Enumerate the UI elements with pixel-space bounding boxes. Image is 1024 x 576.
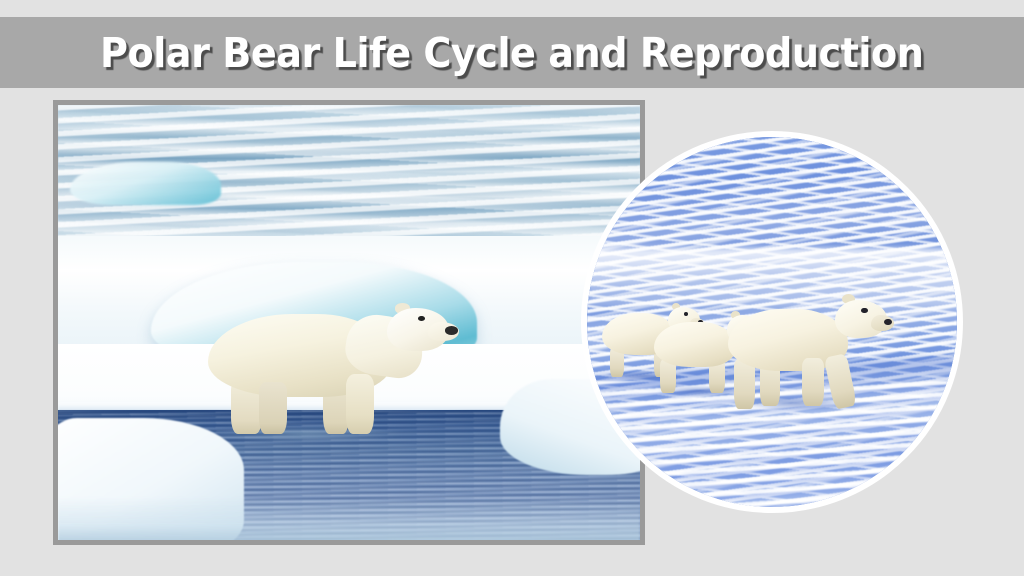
page-title: Polar Bear Life Cycle and Reproduction (100, 33, 923, 74)
mother-leg-front-right (802, 358, 823, 407)
title-banner: Polar Bear Life Cycle and Reproduction (0, 17, 1024, 88)
cub-front-body (654, 322, 736, 368)
left-photo-frame (53, 100, 645, 545)
bear-front-leg-left (346, 374, 374, 434)
polar-bear-mother-figure (728, 289, 891, 400)
mother-eye (861, 308, 868, 314)
ice-ridge-far (70, 162, 221, 206)
bear-nose (445, 326, 458, 335)
slide-canvas: Polar Bear Life Cycle and Reproduction (0, 0, 1024, 576)
bear-eye (418, 316, 425, 321)
polar-bear-figure (198, 288, 454, 432)
polar-bear-on-pack-ice-image (58, 105, 640, 540)
polar-bear-family-circle-image (581, 131, 963, 513)
ice-shelf-bottom (58, 497, 640, 541)
bear-back-leg-right (259, 382, 287, 434)
